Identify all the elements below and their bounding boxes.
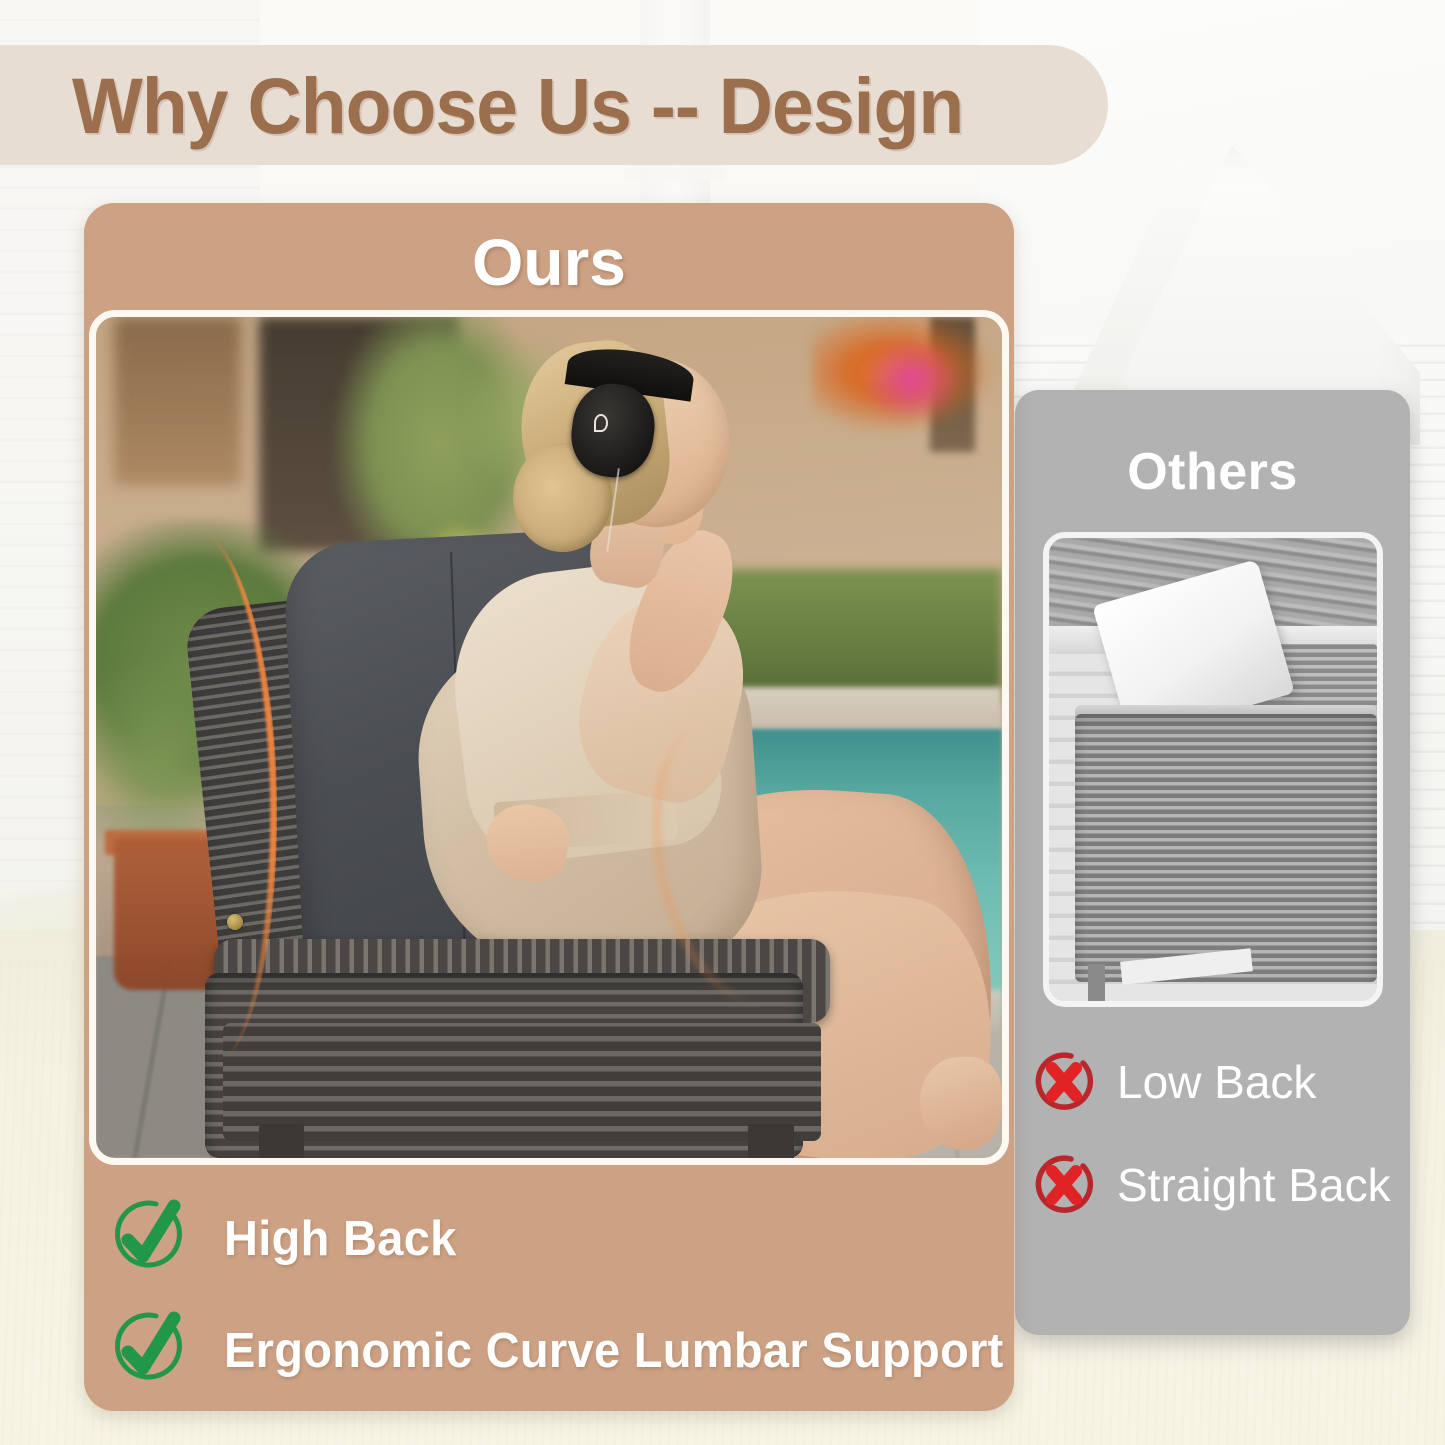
chair-leg-left	[259, 1124, 304, 1165]
others-drawback-item: Straight Back	[1015, 1133, 1410, 1236]
ours-feature-item: Ergonomic Curve Lumbar Support	[84, 1295, 1014, 1407]
ours-feature-list: High Back Ergonomic Curve Lumbar Support	[84, 1183, 1014, 1407]
check-circle-icon	[106, 1308, 192, 1394]
x-circle-icon	[1027, 1148, 1101, 1222]
ours-feature-item: High Back	[84, 1183, 1014, 1295]
photo-pink-blossoms	[857, 334, 966, 427]
others-title: Others	[1015, 446, 1410, 498]
chair-leg-right	[748, 1124, 793, 1165]
others-drawback-label: Straight Back	[1117, 1162, 1391, 1208]
infographic-canvas: Why Choose Us -- Design Others	[0, 0, 1445, 1445]
others-product-photo	[1043, 532, 1383, 1007]
chair-front-panel	[223, 1023, 821, 1141]
ours-product-photo	[89, 310, 1009, 1165]
model-foot	[920, 1057, 1002, 1150]
header-banner: Why Choose Us -- Design	[0, 45, 1108, 165]
page-title: Why Choose Us -- Design	[72, 66, 963, 145]
others-drawback-label: Low Back	[1117, 1059, 1316, 1105]
headphones-brand-logo-icon	[594, 414, 608, 432]
ours-feature-label: Ergonomic Curve Lumbar Support	[224, 1327, 1004, 1376]
ours-title: Ours	[84, 229, 1014, 295]
ours-feature-label: High Back	[224, 1215, 457, 1264]
others-drawback-item: Low Back	[1015, 1030, 1410, 1133]
others-sofa-leg	[1088, 964, 1104, 1006]
check-circle-icon	[106, 1196, 192, 1282]
x-circle-icon	[1027, 1045, 1101, 1119]
others-wicker-sofa	[1075, 714, 1377, 983]
others-panel: Others Low Back	[1015, 390, 1410, 1335]
others-drawback-list: Low Back Straight Back	[1015, 1030, 1410, 1236]
ours-panel: Ours	[84, 203, 1014, 1411]
photo-wall-warm-patch	[114, 317, 241, 485]
